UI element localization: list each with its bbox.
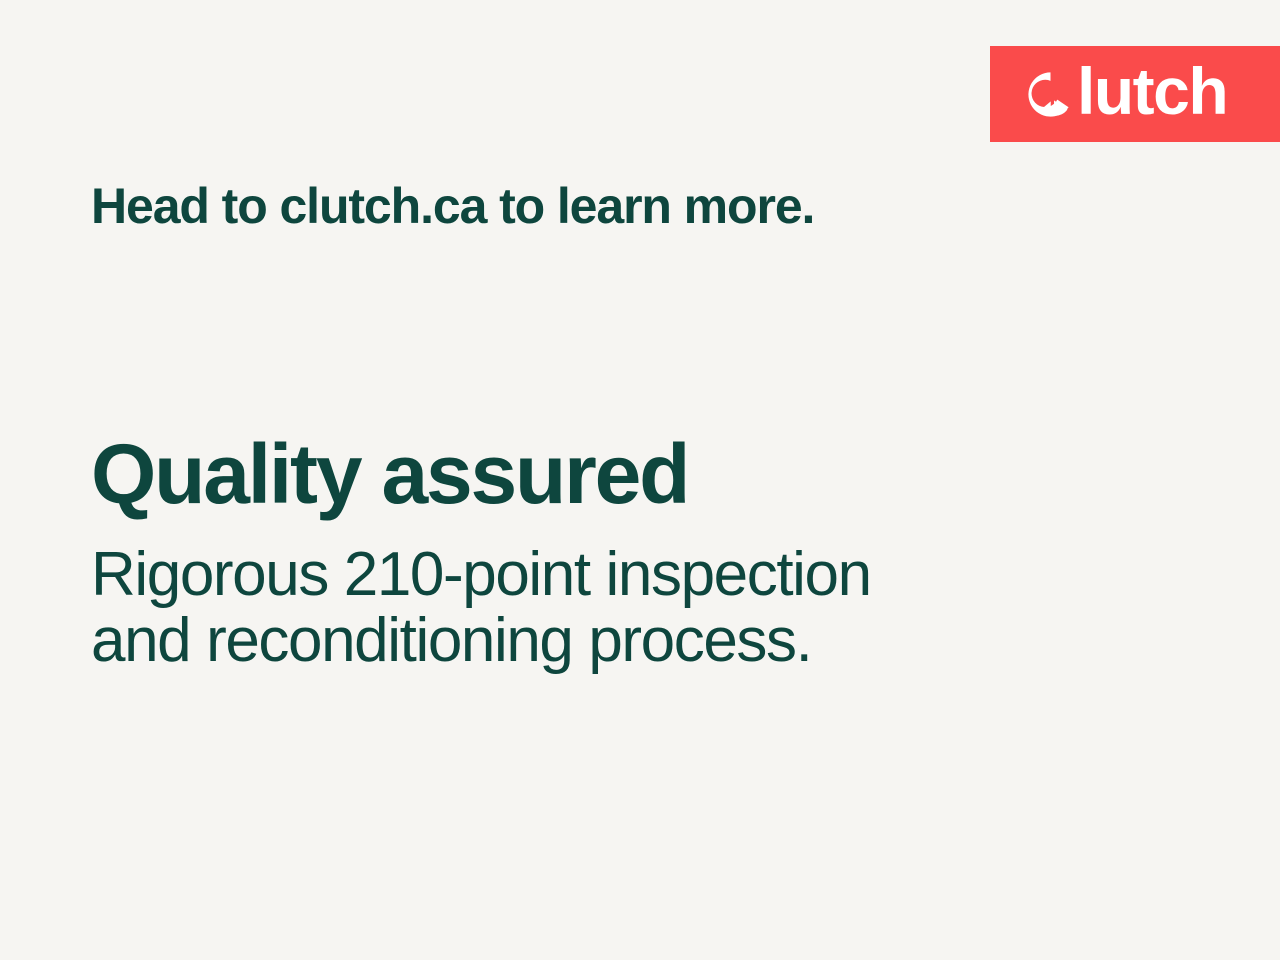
clutch-logo-block: lutch [990,46,1280,142]
cta-text: Head to clutch.ca to learn more. [91,178,814,234]
clutch-wordmark: lutch [1077,58,1227,124]
subheadline: Rigorous 210-point inspection and recond… [91,542,871,673]
clutch-c-mark-icon [1027,71,1074,118]
promo-slide: lutch Head to clutch.ca to learn more. Q… [0,0,1280,960]
page-title: Quality assured [91,432,688,516]
subheadline-line-2: and reconditioning process. [91,608,871,674]
subheadline-line-1: Rigorous 210-point inspection [91,542,871,608]
